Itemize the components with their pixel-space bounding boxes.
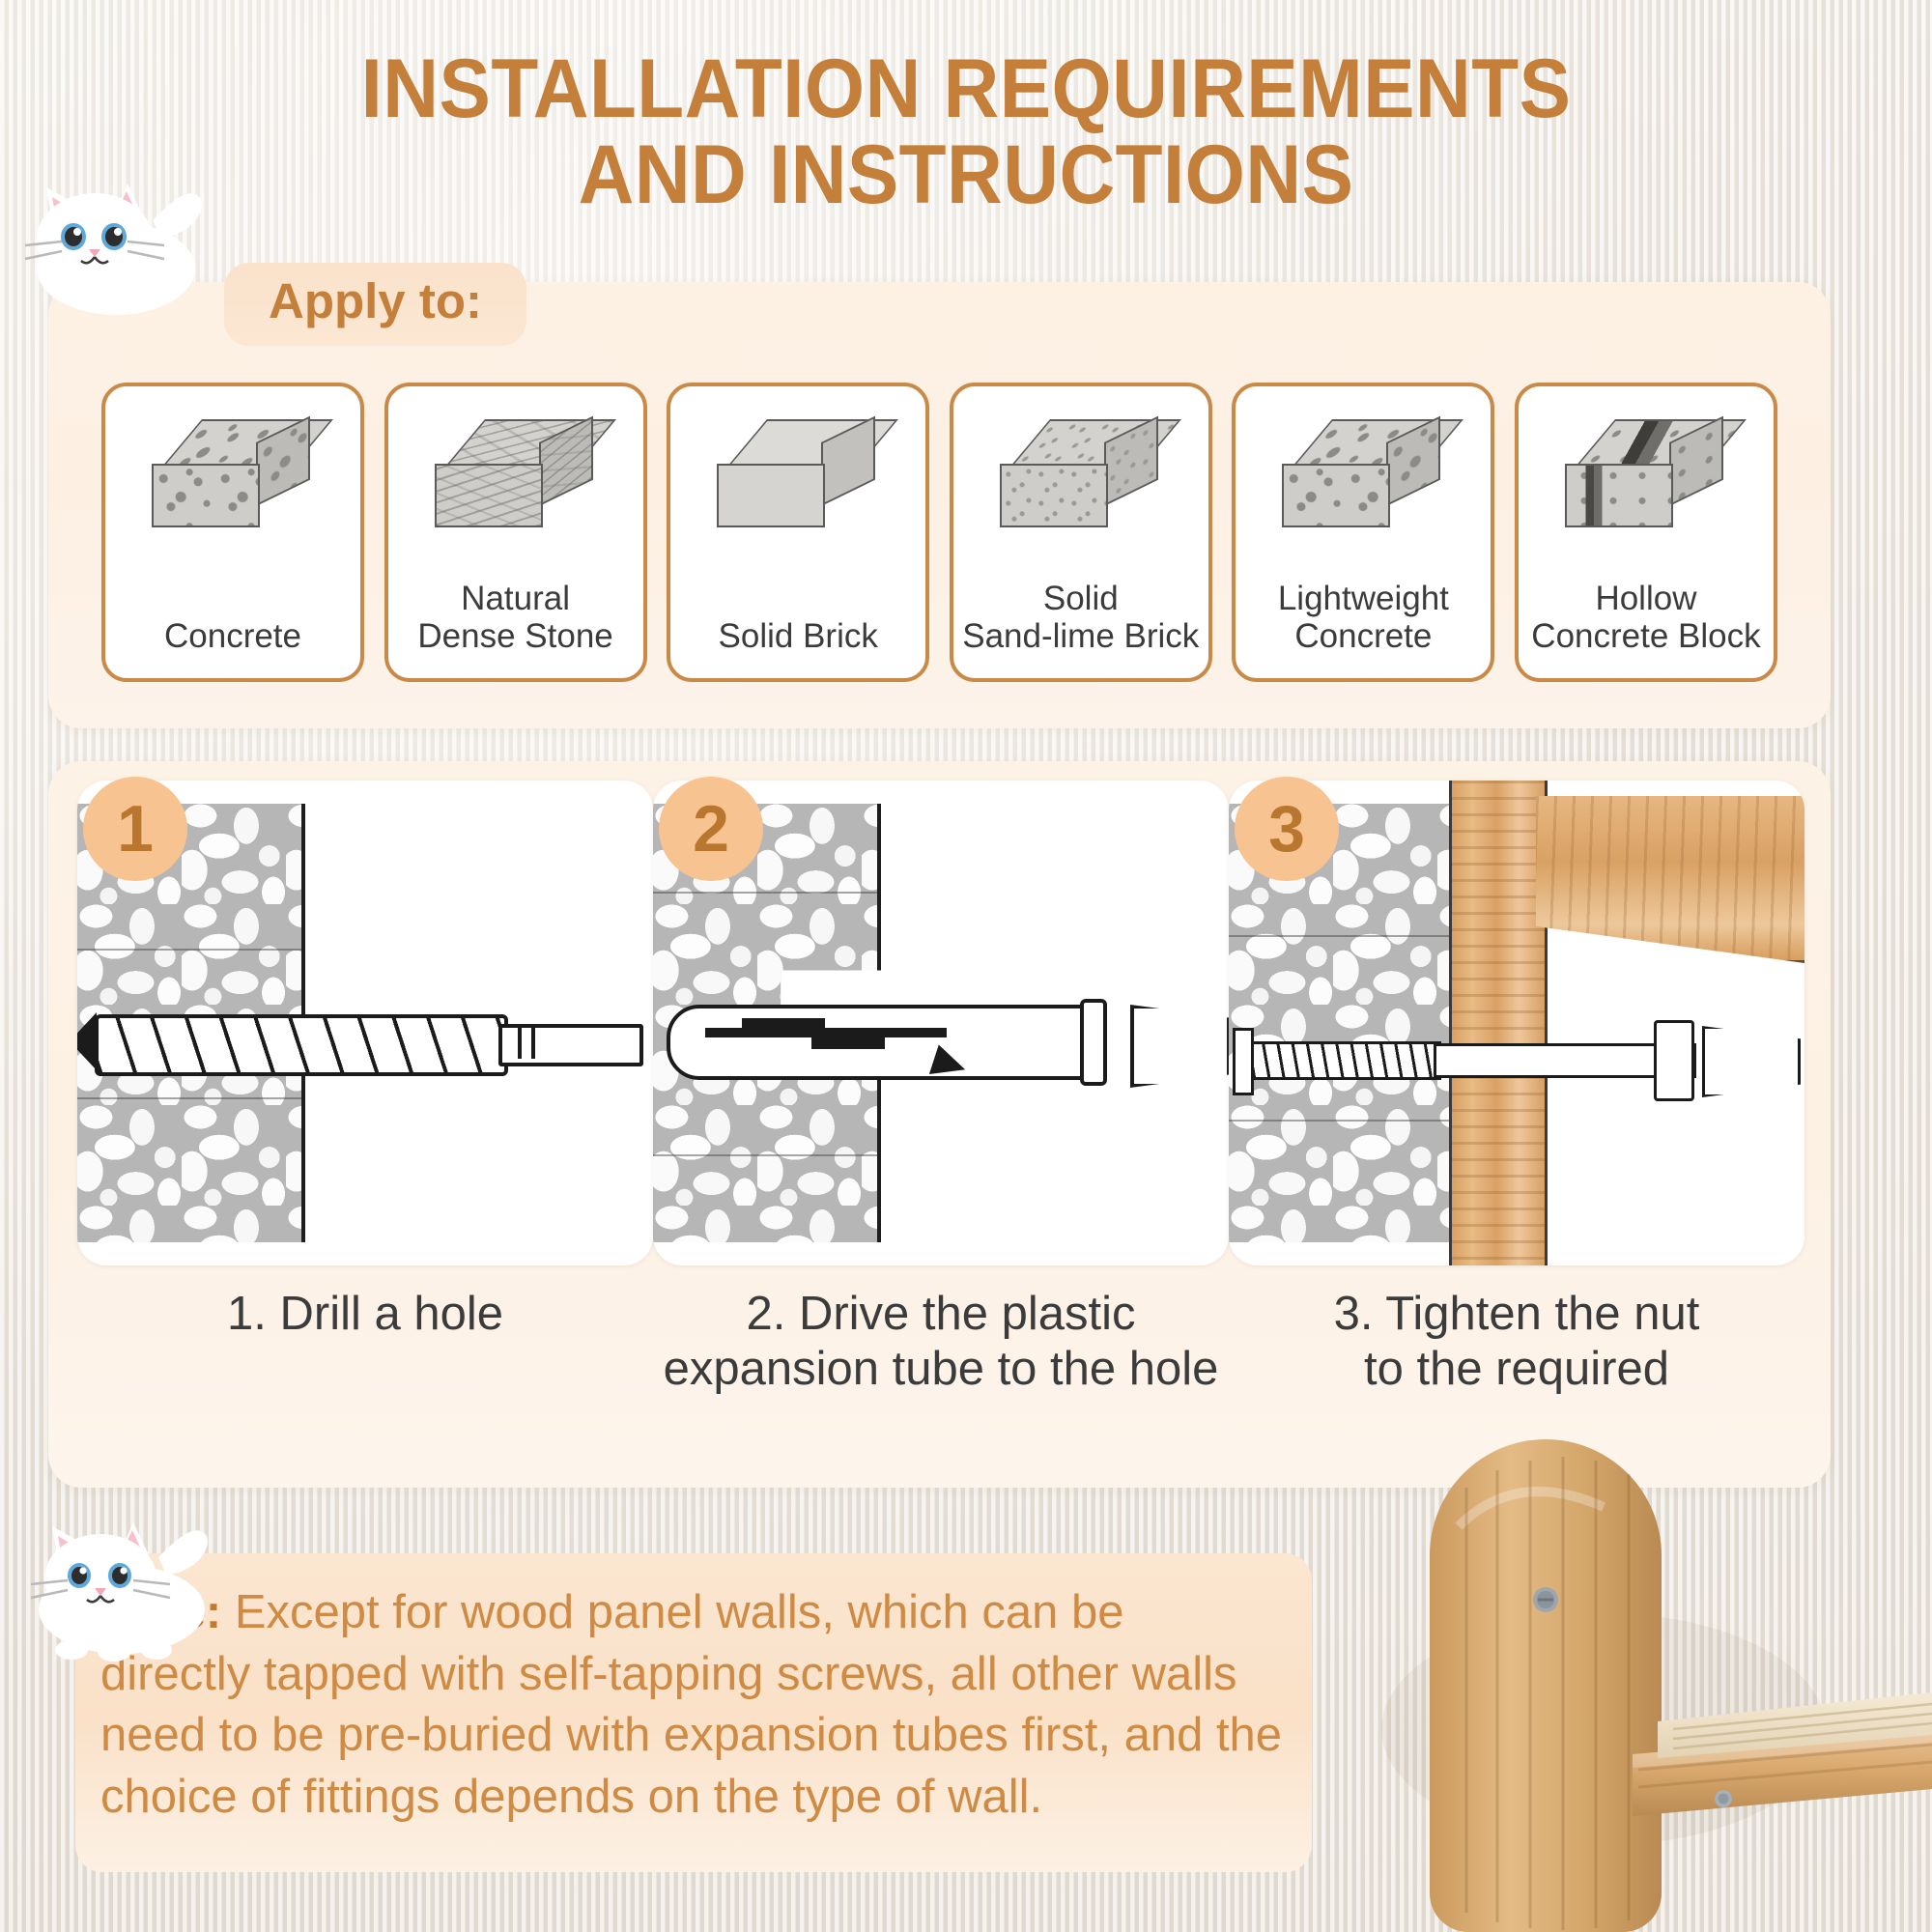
step-2-caption: 2. Drive the plastic expansion tube to t…: [653, 1287, 1229, 1397]
step-3: 3 3. Tighten the nut to the required: [1229, 781, 1804, 1488]
step-1-caption: 1. Drill a hole: [77, 1287, 653, 1342]
step-3-caption: 3. Tighten the nut to the required: [1229, 1287, 1804, 1397]
material-label: Concrete: [105, 617, 360, 655]
material-card-list: Concrete Natural Dense Stone Solid Brick…: [48, 282, 1831, 728]
page-title: INSTALLATION REQUIREMENTS AND INSTRUCTIO…: [68, 46, 1864, 219]
step-1-number-badge: 1: [83, 777, 187, 881]
drill-bit-icon: [95, 1009, 636, 1074]
note-body: Except for wood panel walls, which can b…: [100, 1586, 1282, 1823]
bracket-plate-icon: [1430, 1439, 1662, 1932]
white-cat-icon: [8, 145, 230, 319]
wood-shelf-icon: [1536, 796, 1804, 963]
lightweight-concrete-icon: [1236, 386, 1491, 566]
material-card-solid-brick[interactable]: Solid Brick: [667, 383, 929, 682]
material-card-concrete[interactable]: Concrete: [101, 383, 364, 682]
material-label: Solid Brick: [670, 617, 925, 655]
sand-lime-brick-icon: [953, 386, 1208, 566]
apply-to-badge: Apply to:: [224, 263, 526, 346]
hammer-icon: [1130, 1005, 1229, 1088]
material-label: Natural Dense Stone: [388, 580, 643, 655]
step-1: 1 1. Drill a hole: [77, 781, 653, 1488]
material-card-sand-lime-brick[interactable]: Solid Sand-lime Brick: [950, 383, 1212, 682]
note-text: Note: Except for wood panel walls, which…: [100, 1582, 1287, 1829]
white-cat-icon: [14, 1488, 236, 1671]
bolt-nut-icon: [1250, 1022, 1791, 1094]
step-2: 2 2. Drive the plastic expansion tube to…: [653, 781, 1229, 1488]
material-card-natural-dense-stone[interactable]: Natural Dense Stone: [384, 383, 647, 682]
material-card-hollow-concrete-block[interactable]: Hollow Concrete Block: [1515, 383, 1777, 682]
step-3-number-badge: 3: [1235, 777, 1339, 881]
material-card-lightweight-concrete[interactable]: Lightweight Concrete: [1232, 383, 1494, 682]
material-label: Lightweight Concrete: [1236, 580, 1491, 655]
solid-brick-icon: [670, 386, 925, 566]
hollow-concrete-block-icon: [1519, 386, 1774, 566]
material-label: Hollow Concrete Block: [1519, 580, 1774, 655]
wall-mounted-wood-shelf-photo: [1314, 1410, 1932, 1932]
installation-steps-list: 1 1. Drill a hole 2 2. Drive the plastic…: [48, 761, 1831, 1488]
natural-dense-stone-icon: [388, 386, 643, 566]
concrete-block-icon: [105, 386, 360, 566]
material-label: Solid Sand-lime Brick: [953, 580, 1208, 655]
step-2-number-badge: 2: [659, 777, 763, 881]
